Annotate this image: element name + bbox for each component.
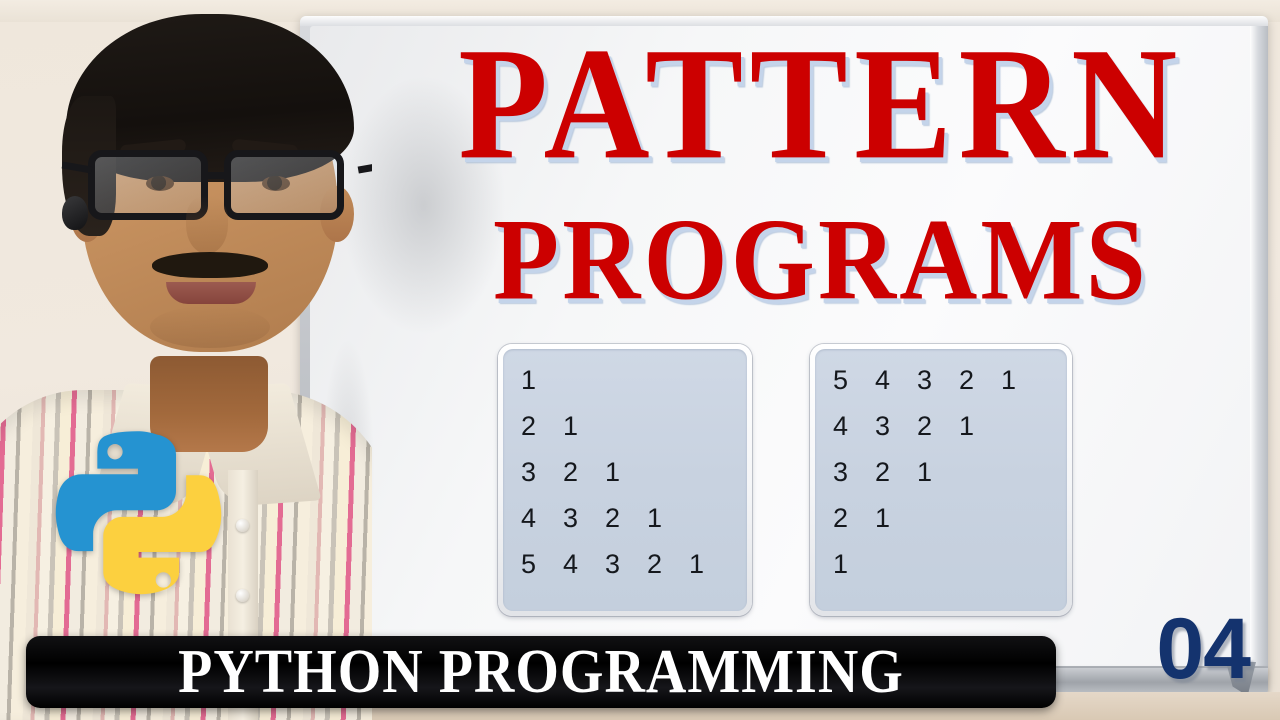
pattern-cell: 1 (605, 459, 647, 486)
pattern-cell: 1 (563, 413, 605, 440)
pattern-cell: 2 (605, 505, 647, 532)
pattern-cell: 1 (521, 367, 563, 394)
presenter-chin (150, 306, 270, 348)
pattern-cell: 3 (833, 459, 875, 486)
pattern-row: 3 2 1 (521, 459, 731, 486)
pattern-cell: 2 (647, 551, 689, 578)
pattern-row: 2 1 (521, 413, 731, 440)
pattern-cell: 2 (563, 459, 605, 486)
pattern-cell: 2 (959, 367, 1001, 394)
pattern-cell: 3 (917, 367, 959, 394)
episode-number-badge: 04 (1156, 606, 1250, 692)
pattern-cell: 3 (521, 459, 563, 486)
bottom-banner: PYTHON PROGRAMMING (26, 636, 1056, 708)
pattern-row: 5 4 3 2 1 (521, 551, 731, 578)
bottom-banner-text: PYTHON PROGRAMMING (178, 636, 904, 708)
pattern-cell: 4 (833, 413, 875, 440)
pattern-cell: 1 (689, 551, 731, 578)
presenter-mouth (166, 282, 256, 304)
pattern-row: 3 2 1 (833, 459, 1051, 486)
pattern-panel-right: 5 4 3 2 1 4 3 2 1 3 2 1 2 (810, 344, 1072, 616)
pattern-row: 1 (521, 367, 731, 394)
pattern-cell: 1 (647, 505, 689, 532)
pattern-cell: 2 (875, 459, 917, 486)
whiteboard-right-edge (1250, 26, 1268, 666)
presenter-shirt-button (236, 589, 249, 602)
presenter-nose (186, 196, 228, 254)
eyeglass-lens-right (224, 150, 344, 220)
pattern-row: 4 3 2 1 (833, 413, 1051, 440)
presenter-shirt-button (236, 519, 249, 532)
pattern-panels: 1 2 1 3 2 1 4 3 2 1 5 (498, 344, 1094, 616)
pattern-row: 1 (833, 551, 1051, 578)
pattern-row: 5 4 3 2 1 (833, 367, 1051, 394)
pattern-cell: 2 (917, 413, 959, 440)
pattern-cell: 5 (521, 551, 563, 578)
pattern-panel-right-body: 5 4 3 2 1 4 3 2 1 3 2 1 2 (815, 349, 1067, 611)
pattern-row: 2 1 (833, 505, 1051, 532)
pattern-cell: 2 (833, 505, 875, 532)
pattern-cell: 2 (521, 413, 563, 440)
pattern-cell: 5 (833, 367, 875, 394)
pattern-cell: 4 (875, 367, 917, 394)
pattern-cell: 1 (833, 551, 875, 578)
pattern-cell: 3 (875, 413, 917, 440)
pattern-cell: 3 (563, 505, 605, 532)
pattern-row: 4 3 2 1 (521, 505, 731, 532)
video-thumbnail: PATTERN PROGRAMS (0, 0, 1280, 720)
eyeglass-bridge (208, 172, 230, 179)
pattern-cell: 4 (563, 551, 605, 578)
pattern-cell: 4 (521, 505, 563, 532)
pattern-cell: 1 (959, 413, 1001, 440)
pattern-panel-left-body: 1 2 1 3 2 1 4 3 2 1 5 (503, 349, 747, 611)
pattern-cell: 1 (1001, 367, 1043, 394)
python-logo (52, 428, 224, 616)
presenter-mustache (152, 252, 268, 278)
pattern-panel-left: 1 2 1 3 2 1 4 3 2 1 5 (498, 344, 752, 616)
pattern-cell: 1 (875, 505, 917, 532)
eyeglass-arm-right (358, 161, 372, 173)
pattern-cell: 1 (917, 459, 959, 486)
pattern-cell: 3 (605, 551, 647, 578)
